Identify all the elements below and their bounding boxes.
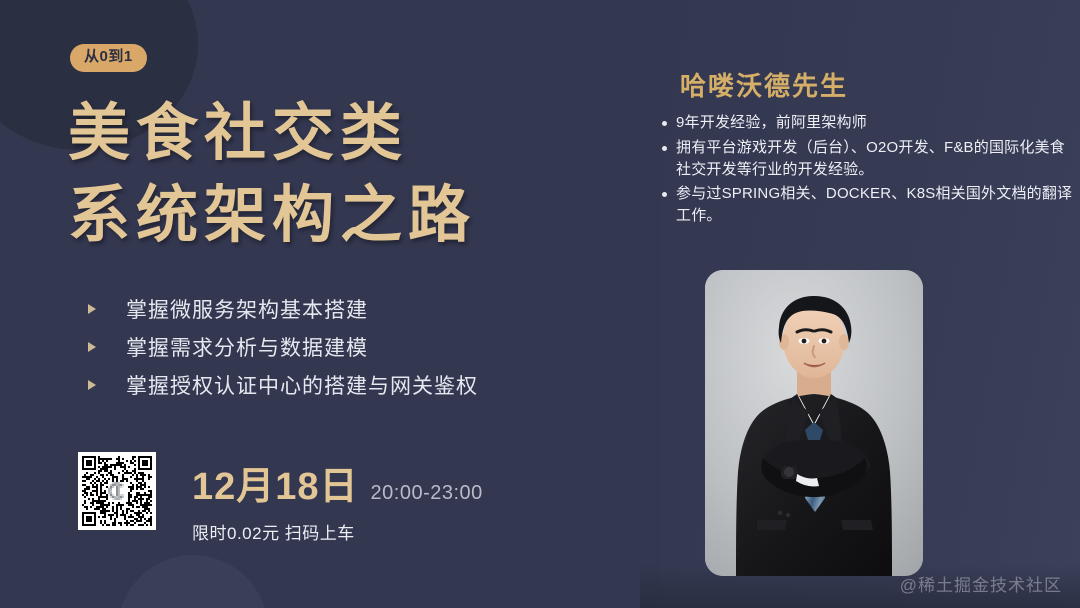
triangle-right-icon — [88, 304, 96, 314]
list-item: 掌握需求分析与数据建模 — [88, 328, 588, 366]
list-item: 拥有平台游戏开发（后台）、O2O开发、F&B的国际化美食社交开发等行业的开发经验… — [662, 137, 1074, 181]
page-title-line-2: 系统架构之路 — [68, 185, 476, 247]
bullet-dot-icon — [662, 121, 667, 126]
bio-text: 拥有平台游戏开发（后台）、O2O开发、F&B的国际化美食社交开发等行业的开发经验… — [676, 137, 1074, 181]
objective-text: 掌握需求分析与数据建模 — [126, 332, 368, 362]
list-item: 掌握授权认证中心的搭建与网关鉴权 — [88, 366, 588, 404]
triangle-right-icon — [88, 380, 96, 390]
speaker-name: 哈喽沃德先生 — [680, 66, 848, 103]
qr-code-icon[interactable] — [78, 452, 156, 530]
objective-text: 掌握授权认证中心的搭建与网关鉴权 — [126, 370, 478, 400]
speaker-portrait-photo — [705, 270, 923, 576]
bullet-dot-icon — [662, 192, 667, 197]
date-time-row: 12月18日 20:00-23:00 — [192, 468, 483, 506]
signup-info: 12月18日 20:00-23:00 限时0.02元 扫码上车 — [192, 468, 483, 544]
list-item: 9年开发经验，前阿里架构师 — [662, 112, 1074, 134]
qr-code-image — [82, 456, 152, 526]
left-column: 从0到1 美食社交类 系统架构之路 掌握微服务架构基本搭建 掌握需求分析与数据建… — [0, 0, 620, 608]
watermark: @稀土掘金技术社区 — [900, 571, 1062, 596]
list-item: 参与过SPRING相关、DOCKER、K8S相关国外文档的翻译工作。 — [662, 183, 1074, 227]
list-item: 掌握微服务架构基本搭建 — [88, 290, 588, 328]
bullet-dot-icon — [662, 146, 667, 151]
promo-slide: 从0到1 美食社交类 系统架构之路 掌握微服务架构基本搭建 掌握需求分析与数据建… — [0, 0, 1080, 608]
event-time: 20:00-23:00 — [371, 483, 483, 503]
objective-text: 掌握微服务架构基本搭建 — [126, 294, 368, 324]
objectives-list: 掌握微服务架构基本搭建 掌握需求分析与数据建模 掌握授权认证中心的搭建与网关鉴权 — [88, 290, 588, 404]
price-note: 限时0.02元 扫码上车 — [192, 519, 483, 544]
bio-text: 参与过SPRING相关、DOCKER、K8S相关国外文档的翻译工作。 — [676, 183, 1074, 227]
event-date: 12月18日 — [192, 468, 359, 506]
bio-text: 9年开发经验，前阿里架构师 — [676, 112, 867, 134]
triangle-right-icon — [88, 342, 96, 352]
page-title-line-1: 美食社交类 — [68, 103, 408, 165]
speaker-bio-list: 9年开发经验，前阿里架构师 拥有平台游戏开发（后台）、O2O开发、F&B的国际化… — [662, 112, 1074, 230]
course-level-badge: 从0到1 — [70, 44, 147, 72]
